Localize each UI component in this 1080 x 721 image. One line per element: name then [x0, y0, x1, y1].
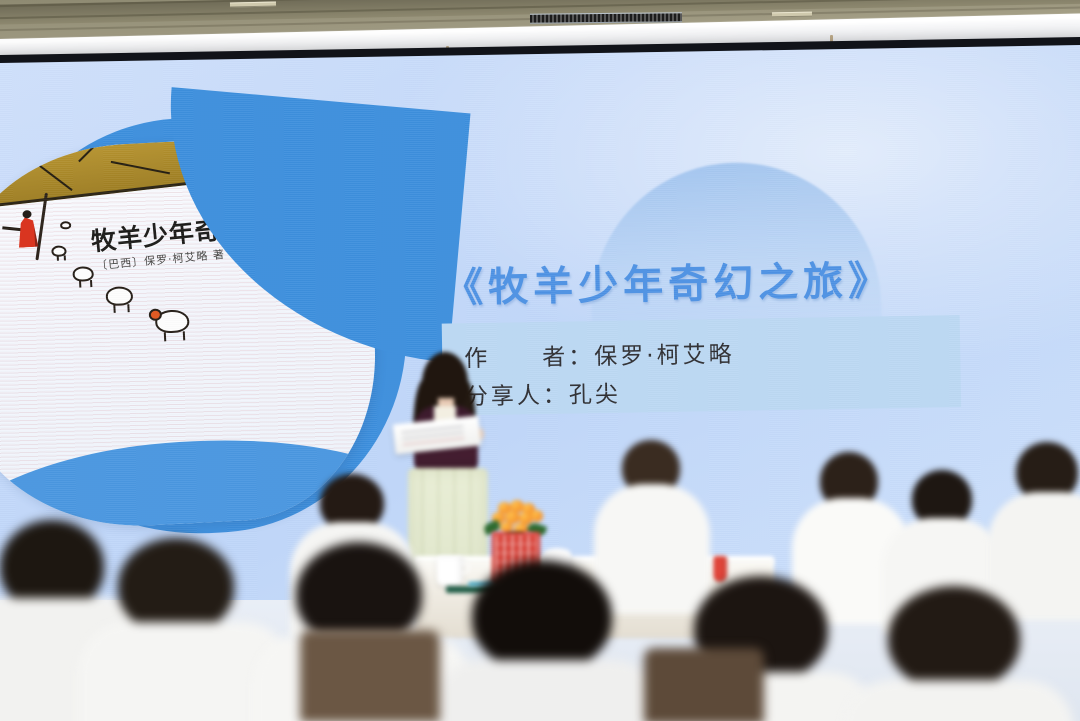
ceiling-air-vent-icon	[530, 12, 682, 24]
ceiling-light	[230, 2, 276, 8]
presentation-scene: 牧羊少年奇幻之旅 〔巴西〕保罗·柯艾略 著 丁文林 译 《牧羊少年奇幻之旅》 作…	[0, 0, 1080, 721]
tea-cup-lid	[543, 548, 571, 560]
slide-title: 《牧羊少年奇幻之旅》	[443, 246, 1004, 313]
audience-member	[848, 586, 1058, 721]
sheep-icon	[72, 266, 94, 282]
sheep-icon	[105, 286, 133, 306]
chair-back	[644, 648, 764, 721]
chair-back	[300, 630, 440, 721]
shepherd-figure-icon	[11, 206, 47, 250]
sheep-icon	[51, 245, 67, 257]
audience-member	[448, 560, 644, 721]
audience-member	[96, 538, 276, 721]
shepherd-head	[22, 210, 31, 218]
ceiling-light	[772, 12, 812, 18]
sheep-icon	[60, 221, 71, 230]
shepherd-cloak	[16, 217, 40, 248]
shepherd-staff	[35, 193, 47, 261]
slide-info-box: 作 者：保罗·柯艾略 分享人：孔尖	[442, 315, 961, 416]
